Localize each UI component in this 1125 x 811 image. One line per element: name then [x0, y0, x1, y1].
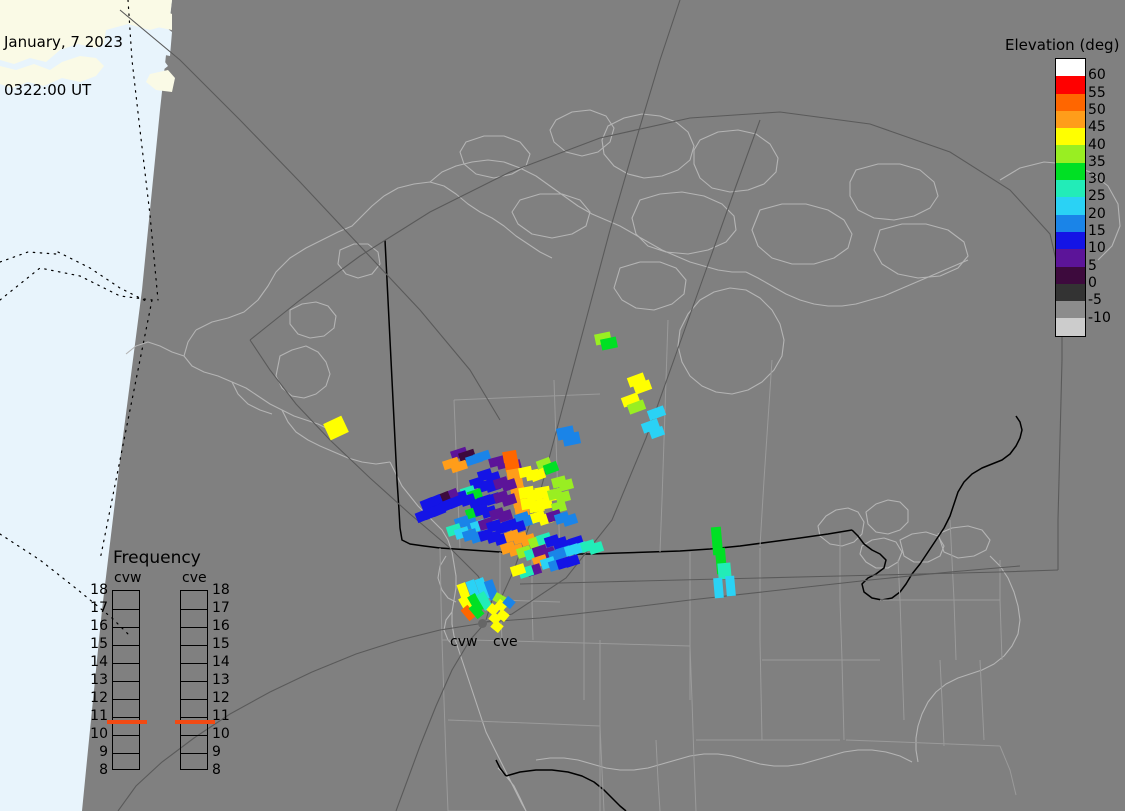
elevation-tick-label: 30 — [1088, 172, 1106, 186]
elevation-color-band — [1056, 128, 1085, 145]
backscatter-cells — [0, 0, 1125, 811]
elevation-tick-label: -10 — [1088, 311, 1111, 325]
frequency-tick — [113, 699, 139, 700]
frequency-tick — [113, 609, 139, 610]
frequency-tick-label-cvw: 14 — [84, 655, 108, 669]
frequency-tick — [181, 753, 207, 754]
backscatter-cell — [725, 576, 736, 597]
elevation-tick-label: 20 — [1088, 207, 1106, 221]
elevation-color-band — [1056, 232, 1085, 249]
elevation-tick-label: 15 — [1088, 224, 1106, 238]
frequency-tick — [181, 645, 207, 646]
frequency-tick-label-cvw: 15 — [84, 637, 108, 651]
frequency-tick-label-cvw: 11 — [84, 709, 108, 723]
elevation-tick-label: 35 — [1088, 155, 1106, 169]
frequency-tick-label-cve: 15 — [212, 637, 236, 651]
backscatter-cell — [713, 578, 724, 599]
frequency-tick — [181, 717, 207, 718]
frequency-gauge-cve — [180, 590, 208, 770]
frequency-tick-label-cvw: 8 — [84, 763, 108, 777]
frequency-tick — [113, 681, 139, 682]
backscatter-cell — [562, 431, 581, 446]
frequency-col-title-cvw: cvw — [114, 570, 141, 586]
elevation-color-band — [1056, 318, 1085, 335]
frequency-tick — [181, 681, 207, 682]
frequency-tick-label-cve: 14 — [212, 655, 236, 669]
frequency-tick — [113, 663, 139, 664]
timestamp-date: January, 7 2023 — [4, 34, 123, 50]
frequency-tick — [181, 663, 207, 664]
elevation-color-band — [1056, 197, 1085, 214]
elevation-color-band — [1056, 59, 1085, 76]
elevation-tick-label: 60 — [1088, 68, 1106, 82]
frequency-tick-label-cve: 11 — [212, 709, 236, 723]
elevation-tick-label: 50 — [1088, 103, 1106, 117]
frequency-tick-label-cve: 12 — [212, 691, 236, 705]
frequency-tick-label-cve: 18 — [212, 583, 236, 597]
frequency-tick-label-cve: 17 — [212, 601, 236, 615]
site-label-cve: cve — [493, 634, 518, 650]
elevation-color-band — [1056, 145, 1085, 162]
frequency-tick-label-cvw: 13 — [84, 673, 108, 687]
elevation-color-band — [1056, 94, 1085, 111]
frequency-tick-label-cve: 9 — [212, 745, 236, 759]
frequency-tick — [113, 717, 139, 718]
frequency-tick — [181, 699, 207, 700]
elevation-tick-label: 0 — [1088, 276, 1097, 290]
elevation-tick-label: 55 — [1088, 86, 1106, 100]
backscatter-cell — [323, 416, 349, 441]
frequency-tick-label-cve: 10 — [212, 727, 236, 741]
elevation-tick-label: 10 — [1088, 241, 1106, 255]
frequency-gauge-cvw — [112, 590, 140, 770]
frequency-tick — [113, 627, 139, 628]
frequency-tick — [113, 735, 139, 736]
frequency-tick — [181, 627, 207, 628]
elevation-color-band — [1056, 163, 1085, 180]
frequency-tick — [181, 609, 207, 610]
frequency-tick — [113, 753, 139, 754]
elevation-tick-label: -5 — [1088, 293, 1102, 307]
frequency-tick-label-cvw: 16 — [84, 619, 108, 633]
frequency-tick-label-cvw: 12 — [84, 691, 108, 705]
elevation-color-band — [1056, 111, 1085, 128]
frequency-tick-label-cvw: 9 — [84, 745, 108, 759]
frequency-tick — [113, 645, 139, 646]
elevation-color-band — [1056, 180, 1085, 197]
elevation-tick-label: 5 — [1088, 259, 1097, 273]
frequency-tick-label-cve: 8 — [212, 763, 236, 777]
elevation-legend-title: Elevation (deg) — [1005, 36, 1119, 54]
elevation-tick-label: 25 — [1088, 189, 1106, 203]
frequency-tick-label-cvw: 18 — [84, 583, 108, 597]
site-label-cvw: cvw — [450, 634, 477, 650]
frequency-tick-label-cvw: 17 — [84, 601, 108, 615]
elevation-color-band — [1056, 301, 1085, 318]
backscatter-cell — [600, 336, 618, 350]
timestamp-time: 0322:00 UT — [4, 82, 123, 98]
elevation-color-band — [1056, 284, 1085, 301]
elevation-color-band — [1056, 76, 1085, 93]
timestamp: January, 7 2023 0322:00 UT — [4, 2, 123, 130]
radar-map-figure: cvw cve January, 7 2023 0322:00 UT Eleva… — [0, 0, 1125, 811]
frequency-marker-cvw — [107, 720, 147, 724]
frequency-tick-label-cve: 16 — [212, 619, 236, 633]
frequency-col-title-cve: cve — [182, 570, 207, 586]
elevation-color-band — [1056, 249, 1085, 266]
frequency-legend-title: Frequency — [113, 548, 201, 568]
frequency-tick — [181, 735, 207, 736]
elevation-tick-label: 45 — [1088, 120, 1106, 134]
frequency-tick-label-cve: 13 — [212, 673, 236, 687]
radar-site-marker — [478, 619, 487, 628]
frequency-marker-cve — [175, 720, 215, 724]
elevation-color-band — [1056, 267, 1085, 284]
elevation-colorbar — [1055, 58, 1086, 337]
elevation-tick-label: 40 — [1088, 138, 1106, 152]
frequency-tick-label-cvw: 10 — [84, 727, 108, 741]
elevation-color-band — [1056, 215, 1085, 232]
